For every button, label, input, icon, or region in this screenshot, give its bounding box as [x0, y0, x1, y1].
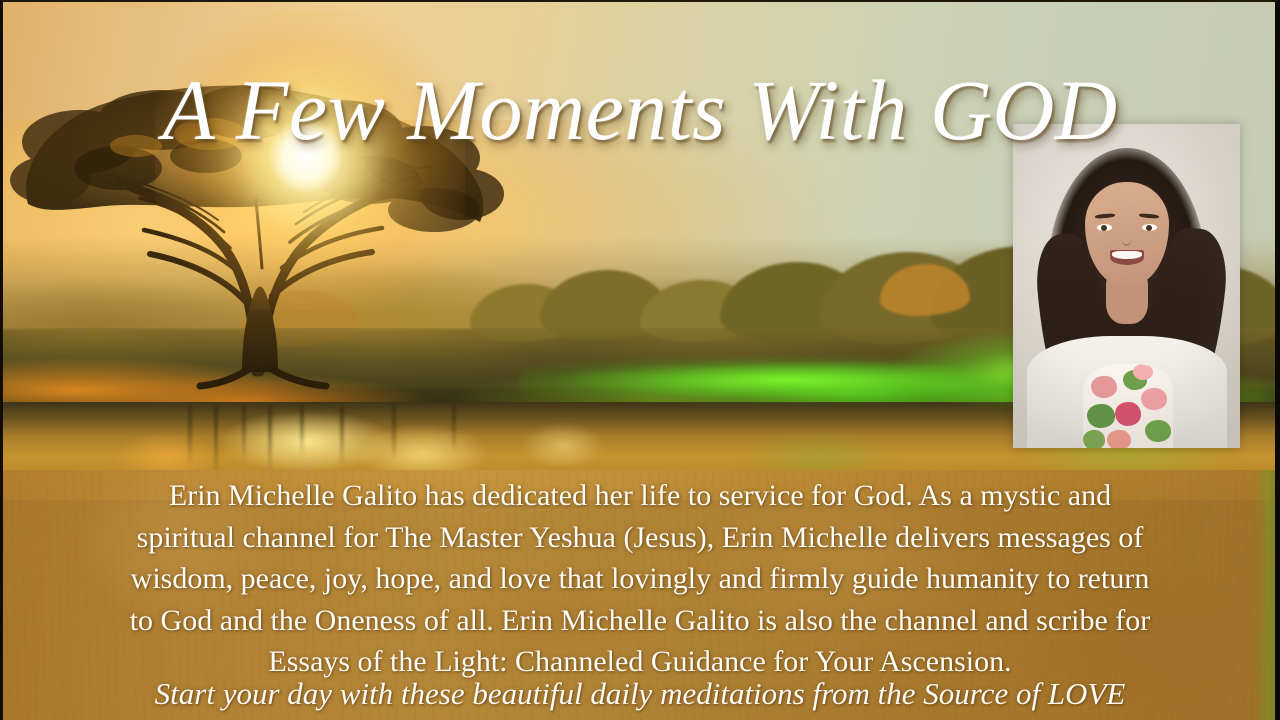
page-title: A Few Moments With GOD	[0, 62, 1280, 158]
portrait-vignette	[1013, 124, 1240, 448]
description-line-3: wisdom, peace, joy, hope, and love that …	[0, 558, 1280, 600]
avatar	[1013, 124, 1240, 448]
video-thumbnail: A Few Moments With GOD	[0, 0, 1280, 720]
description-line-4: to God and the Oneness of all. Erin Mich…	[0, 600, 1280, 642]
description-line-1: Erin Michelle Galito has dedicated her l…	[0, 475, 1280, 517]
tagline: Start your day with these beautiful dail…	[0, 672, 1280, 716]
description-line-2: spiritual channel for The Master Yeshua …	[0, 517, 1280, 559]
description-text: Erin Michelle Galito has dedicated her l…	[0, 475, 1280, 683]
